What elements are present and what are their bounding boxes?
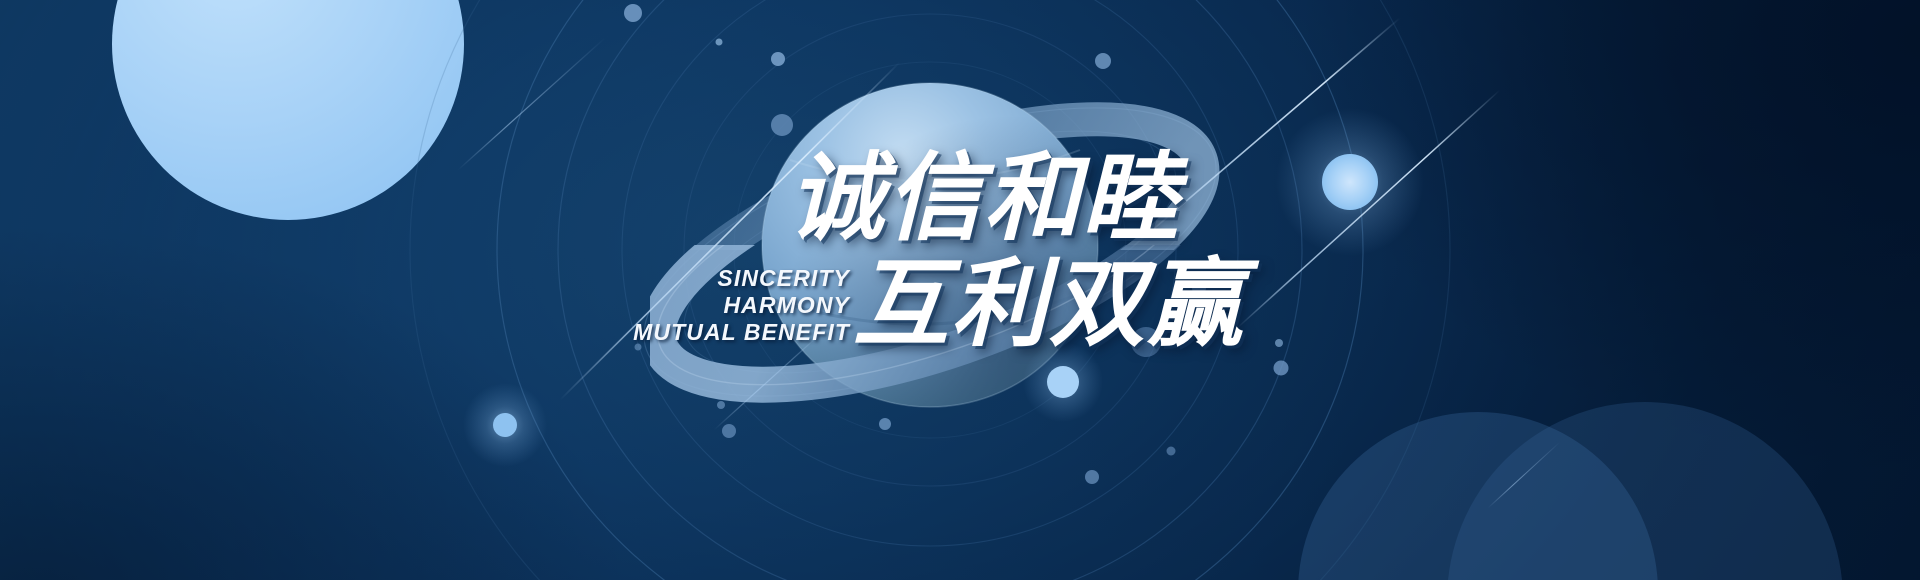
glow-dot-left bbox=[463, 383, 547, 467]
hero-banner: 诚信和睦 互利双赢 SINCERITY HARMONY MUTUAL BENEF… bbox=[0, 0, 1920, 580]
glow-dot-center-right bbox=[1023, 342, 1103, 422]
space-illustration bbox=[0, 0, 1920, 580]
decor-circle-top-left bbox=[112, 0, 464, 220]
glow-sphere-right bbox=[1276, 108, 1424, 256]
decor-circle-cluster-bottom-right bbox=[1298, 402, 1843, 580]
